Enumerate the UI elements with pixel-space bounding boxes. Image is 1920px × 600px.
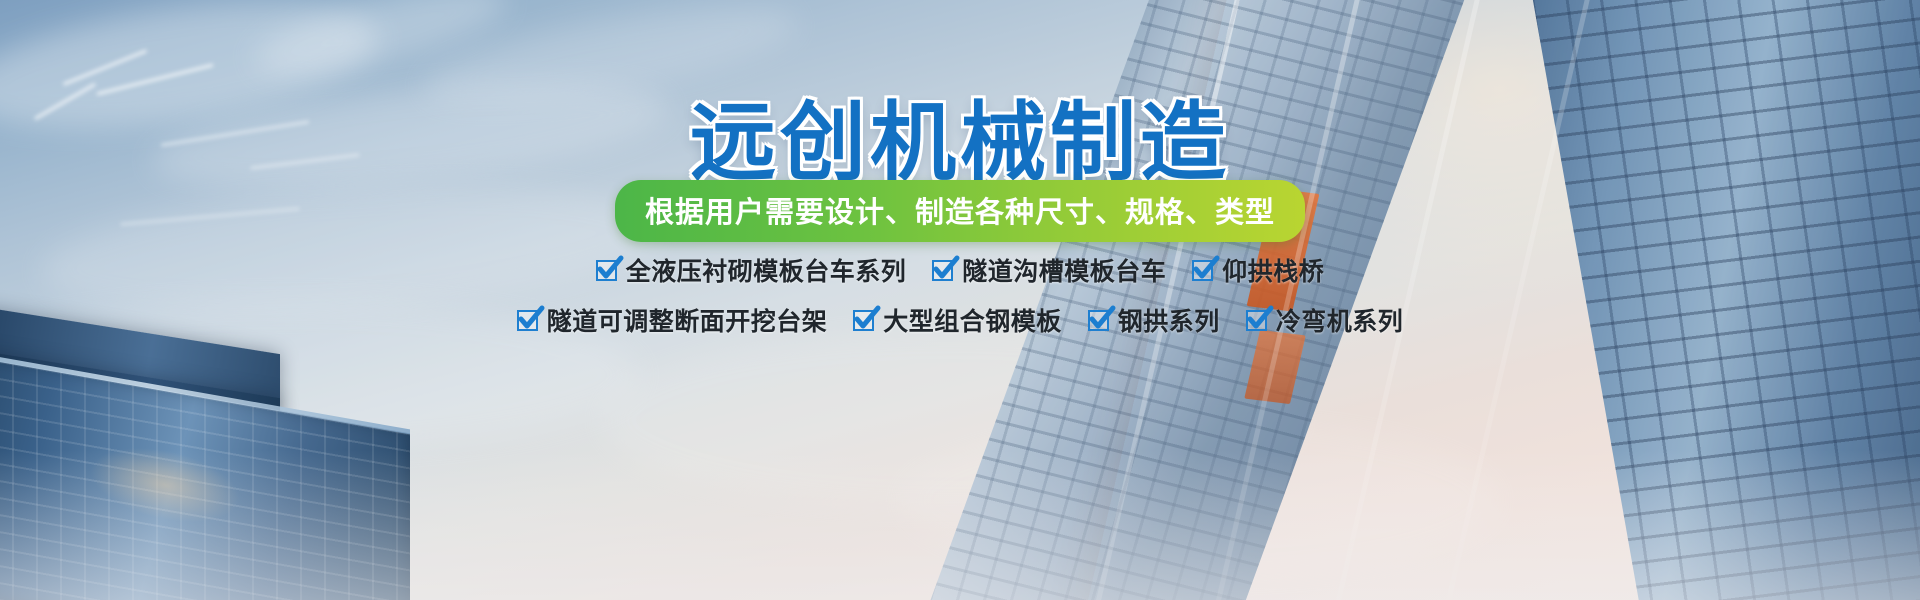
feature-label: 隧道可调整断面开挖台架 bbox=[547, 302, 828, 338]
feature-label: 冷弯机系列 bbox=[1276, 302, 1404, 338]
feature-item[interactable]: 全液压衬砌模板台车系列 bbox=[596, 252, 907, 288]
feature-label: 大型组合钢模板 bbox=[883, 302, 1062, 338]
feature-item[interactable]: 隧道可调整断面开挖台架 bbox=[517, 302, 828, 338]
feature-label: 全液压衬砌模板台车系列 bbox=[626, 252, 907, 288]
checkbox-checked-icon bbox=[1088, 310, 1109, 331]
feature-item[interactable]: 隧道沟槽模板台车 bbox=[932, 252, 1166, 288]
feature-list: 全液压衬砌模板台车系列 隧道沟槽模板台车 仰拱栈桥 bbox=[0, 252, 1920, 352]
feature-item[interactable]: 钢拱系列 bbox=[1088, 302, 1220, 338]
subtitle-container: 根据用户需要设计、制造各种尺寸、规格、类型 bbox=[0, 180, 1920, 242]
subtitle-pill: 根据用户需要设计、制造各种尺寸、规格、类型 bbox=[615, 180, 1305, 242]
feature-row: 隧道可调整断面开挖台架 大型组合钢模板 钢拱系列 bbox=[0, 302, 1920, 338]
banner-content: 远创机械制造 根据用户需要设计、制造各种尺寸、规格、类型 全液压衬砌模板台车系列… bbox=[0, 0, 1920, 600]
feature-item[interactable]: 大型组合钢模板 bbox=[853, 302, 1062, 338]
feature-label: 钢拱系列 bbox=[1118, 302, 1220, 338]
feature-label: 隧道沟槽模板台车 bbox=[962, 252, 1166, 288]
checkbox-checked-icon bbox=[517, 310, 538, 331]
checkbox-checked-icon bbox=[853, 310, 874, 331]
feature-item[interactable]: 仰拱栈桥 bbox=[1192, 252, 1324, 288]
checkbox-checked-icon bbox=[1246, 310, 1267, 331]
hero-banner: 远创机械制造 根据用户需要设计、制造各种尺寸、规格、类型 全液压衬砌模板台车系列… bbox=[0, 0, 1920, 600]
checkbox-checked-icon bbox=[1192, 260, 1213, 281]
checkbox-checked-icon bbox=[596, 260, 617, 281]
feature-item[interactable]: 冷弯机系列 bbox=[1246, 302, 1404, 338]
page-title: 远创机械制造 bbox=[0, 72, 1920, 197]
feature-row: 全液压衬砌模板台车系列 隧道沟槽模板台车 仰拱栈桥 bbox=[0, 252, 1920, 288]
checkbox-checked-icon bbox=[932, 260, 953, 281]
feature-label: 仰拱栈桥 bbox=[1222, 252, 1324, 288]
